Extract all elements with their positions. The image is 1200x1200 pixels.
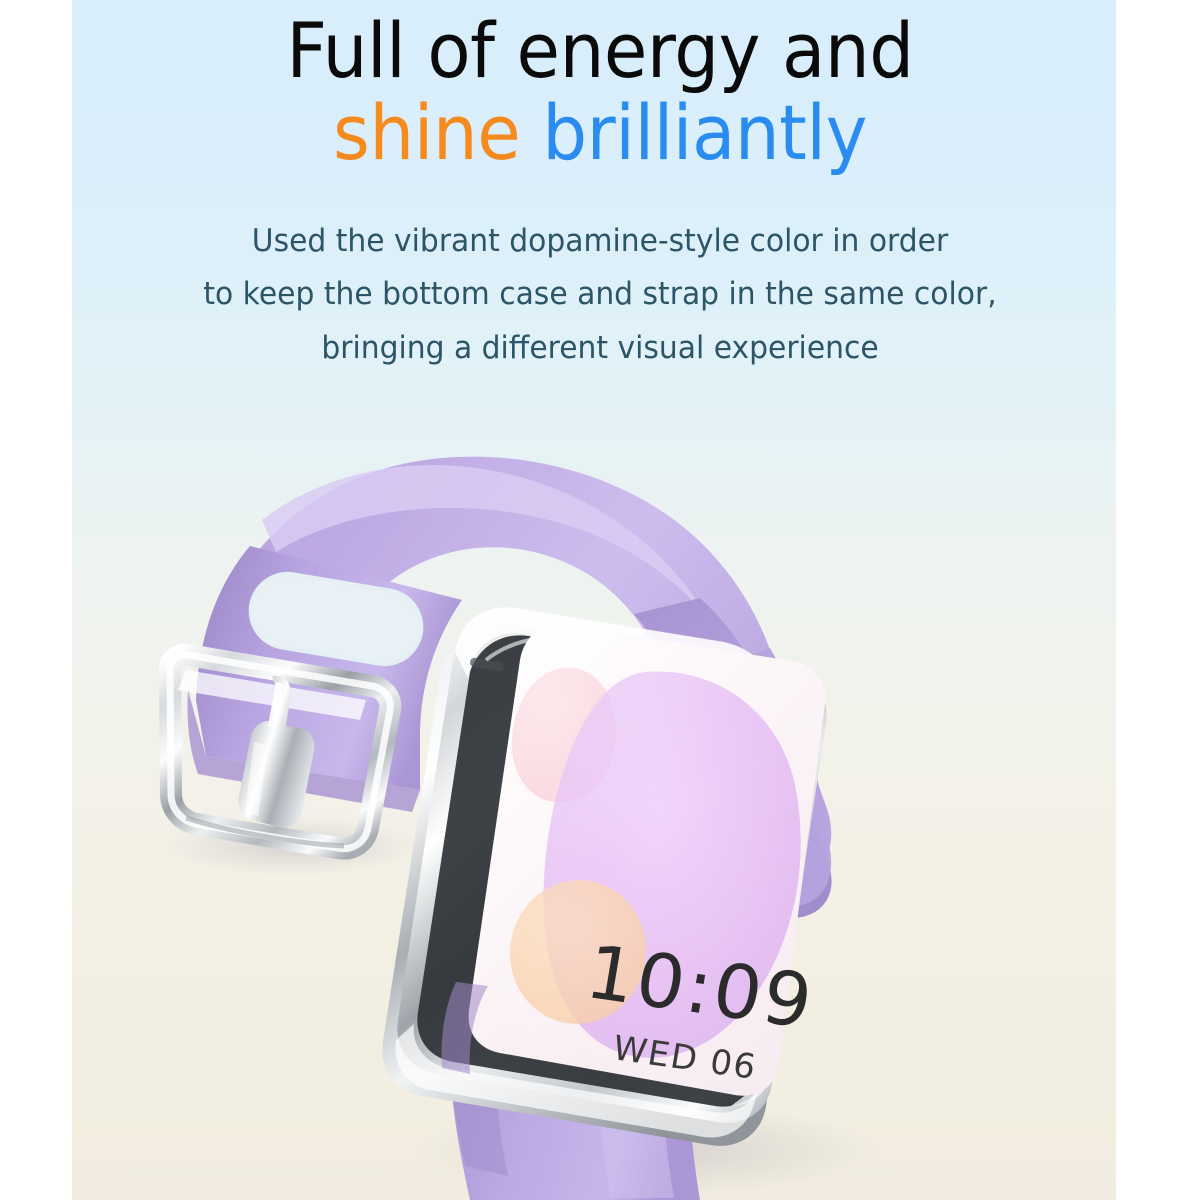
subheading-line-3: bringing a different visual experience xyxy=(24,322,1176,375)
subheading-line-1: Used the vibrant dopamine-style color in… xyxy=(24,215,1176,268)
headline-line-2: shine brilliantly xyxy=(42,88,1158,170)
marketing-banner: Full of energy and shine brilliantly Use… xyxy=(0,0,1200,1200)
headline-word-shine: shine xyxy=(333,88,520,177)
subheading-line-2: to keep the bottom case and strap in the… xyxy=(24,268,1176,321)
headline-line-1: Full of energy and xyxy=(42,0,1158,88)
subheading: Used the vibrant dopamine-style color in… xyxy=(24,171,1176,375)
copy-block: Full of energy and shine brilliantly Use… xyxy=(0,0,1200,375)
headline-word-brilliantly: brilliantly xyxy=(520,88,867,177)
